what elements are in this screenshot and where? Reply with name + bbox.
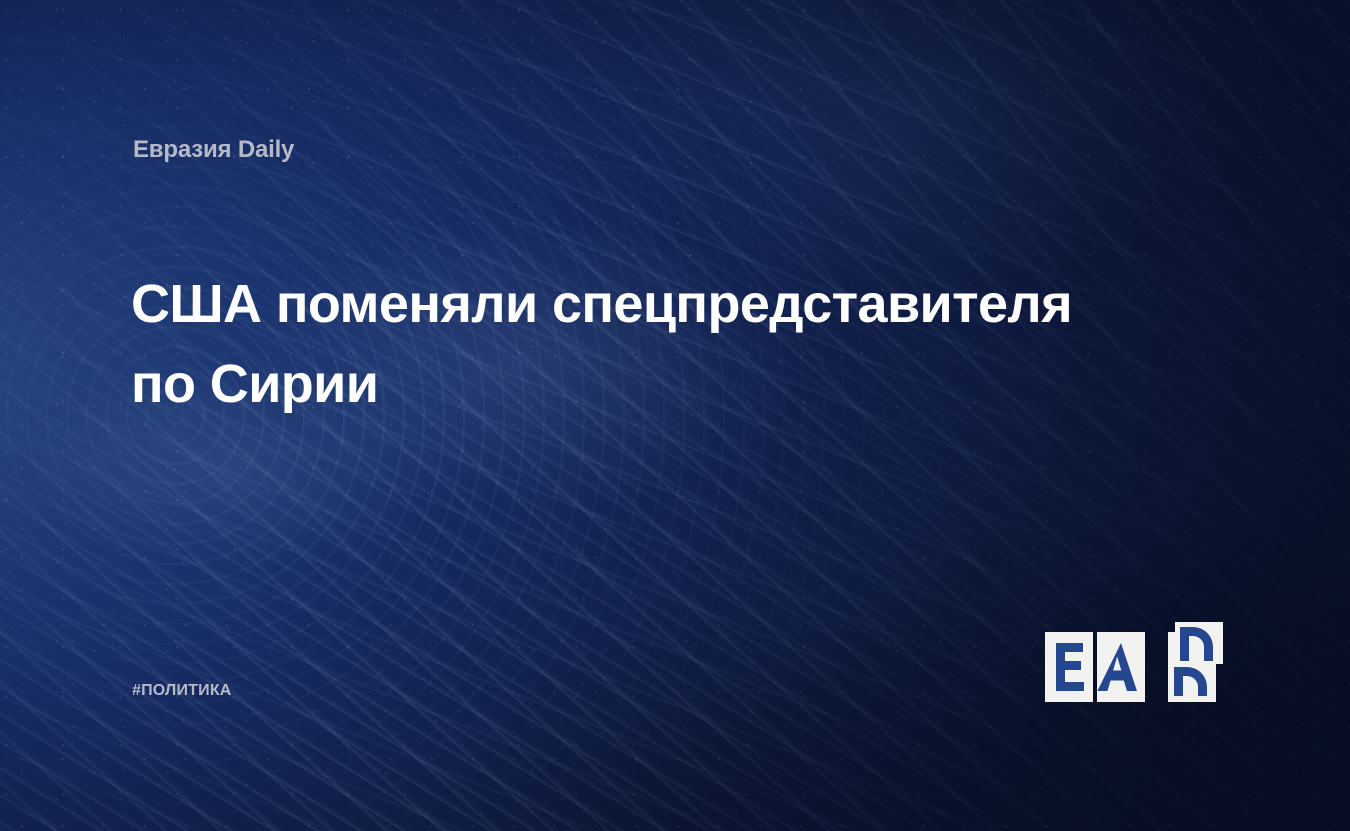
headline-line-1: США поменяли спецпредставителя [131,264,1131,344]
card-content: Евразия Daily США поменяли спецпредстави… [0,0,1350,831]
brand-name: Евразия Daily [133,136,294,164]
headline-line-2: по Сирии [131,344,1131,424]
page-title: США поменяли спецпредставителя по Сирии [131,264,1131,424]
ead-logo[interactable] [1044,622,1224,704]
logo-letter-e [1056,643,1084,691]
category-tag-politics[interactable]: #ПОЛИТИКА [132,682,232,700]
social-share-card: Евразия Daily США поменяли спецпредстави… [0,0,1350,831]
